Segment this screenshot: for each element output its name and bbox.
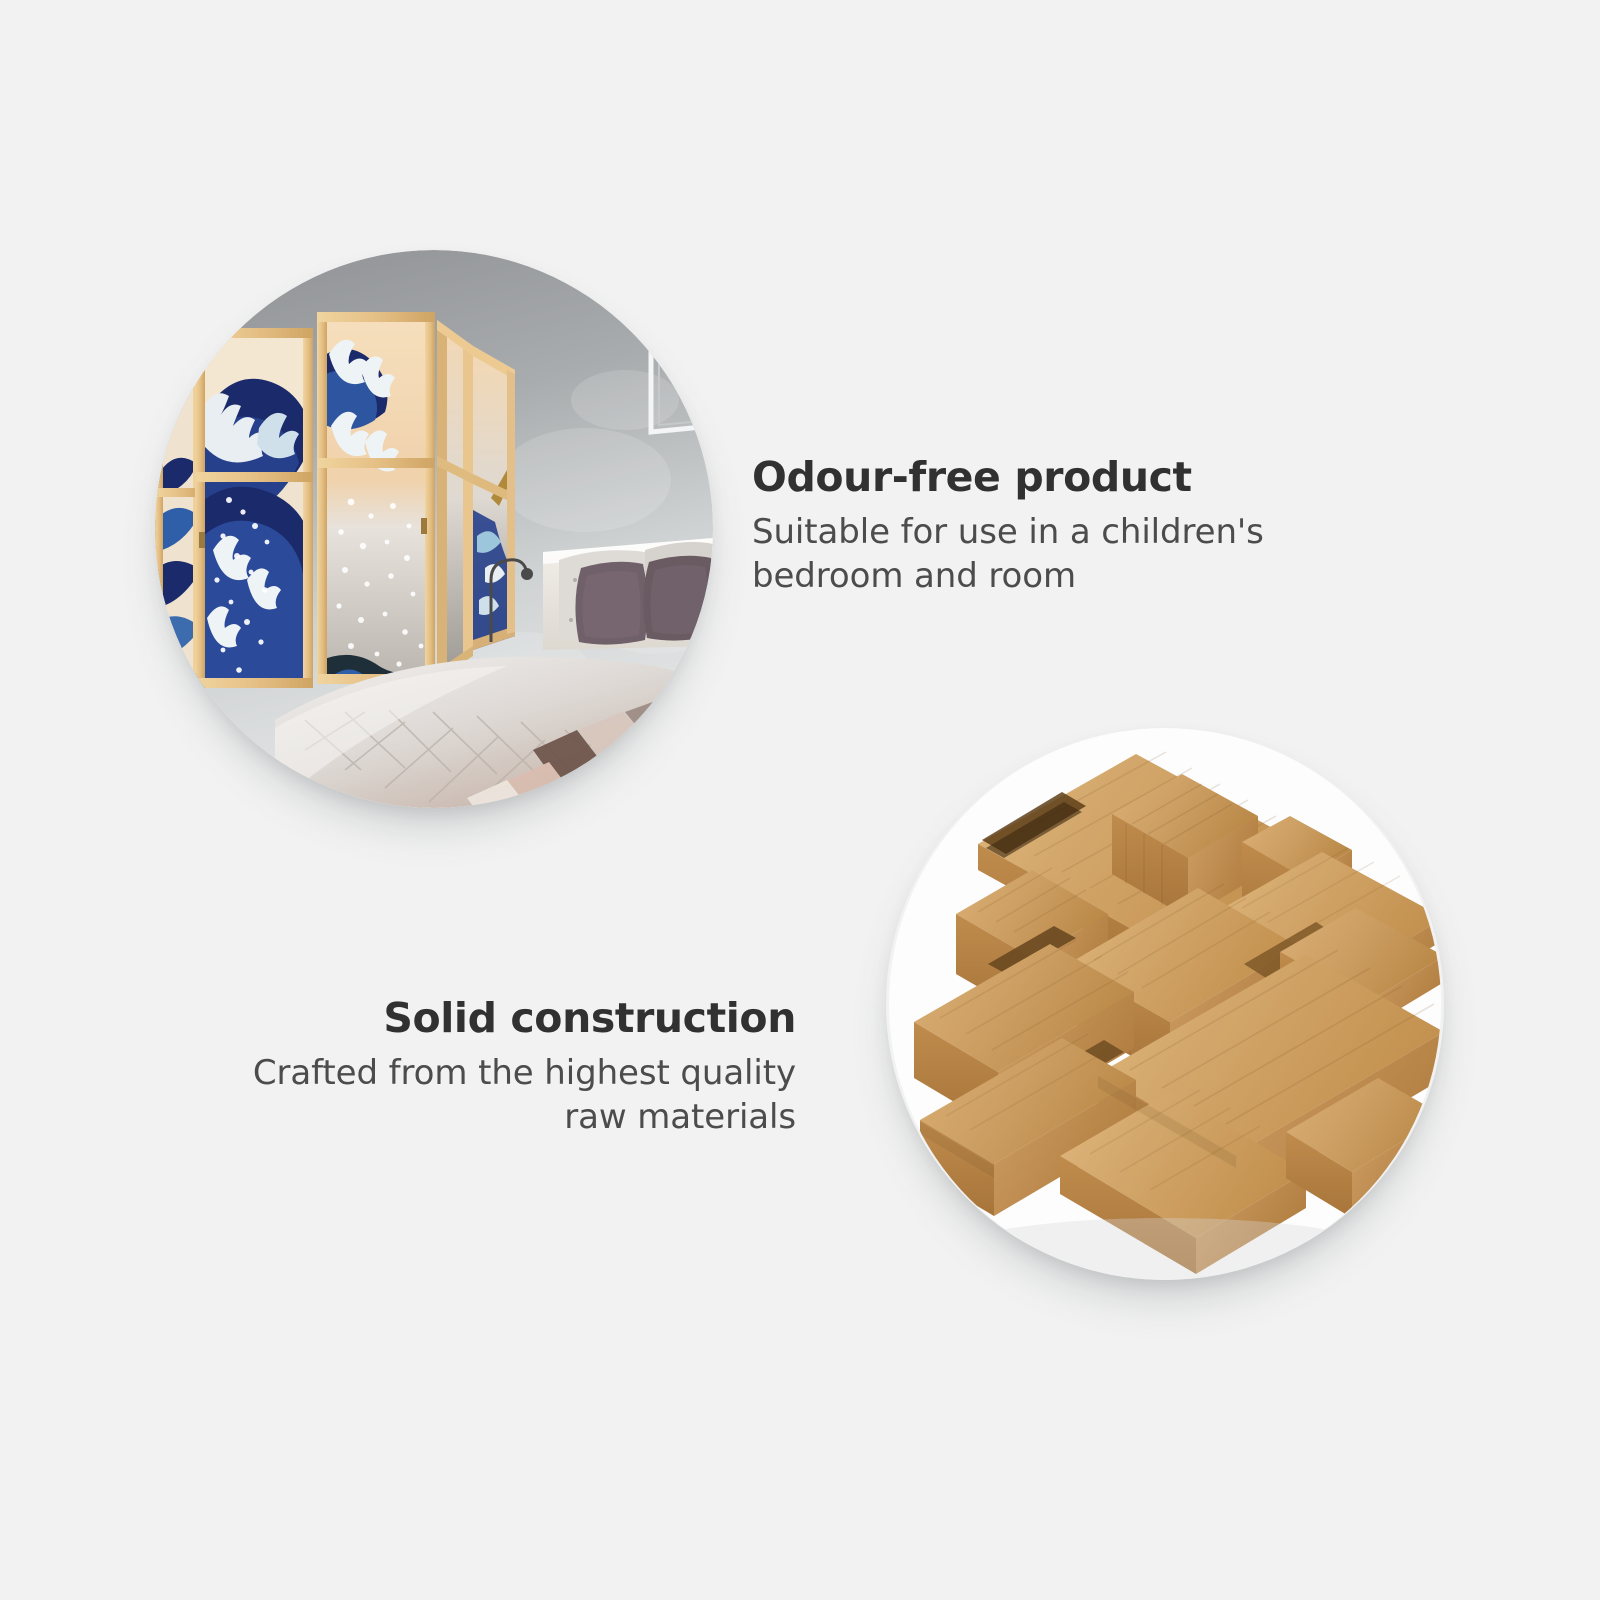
feature-solid-construction-title: Solid construction [236, 996, 796, 1042]
stacked-timber-planks-photo [886, 728, 1444, 1280]
divider-panel-folded [437, 320, 473, 680]
divider-panel-wave [195, 328, 313, 688]
divider-panel-right [473, 346, 515, 650]
feature-solid-construction-description: Crafted from the highest quality raw mat… [236, 1051, 796, 1139]
feature-odour-free-title: Odour-free product [752, 455, 1312, 501]
feature-odour-free-description: Suitable for use in a children's bedroom… [752, 510, 1312, 598]
feature-odour-free-text: Odour-free product Suitable for use in a… [752, 455, 1312, 598]
feature-solid-construction-text: Solid construction Crafted from the high… [236, 996, 796, 1139]
feature-highlight-stage: Odour-free product Suitable for use in a… [0, 0, 1600, 1600]
divider-panel-foam [317, 312, 435, 690]
bedroom-room-divider-photo [155, 250, 713, 808]
